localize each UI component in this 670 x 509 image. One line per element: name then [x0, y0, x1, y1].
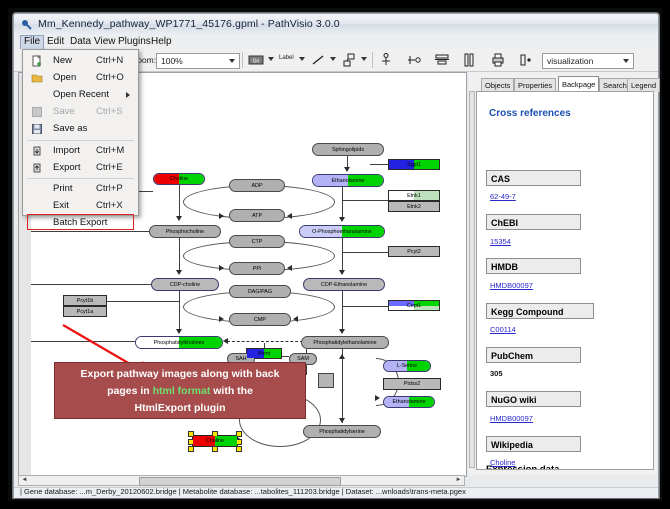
- chevron-down-icon: [623, 59, 629, 63]
- gene-node-pemt[interactable]: Pemt: [246, 348, 282, 359]
- arrow-icon: [223, 338, 228, 344]
- svg-text:Gn: Gn: [253, 59, 260, 65]
- arrow-icon: [339, 329, 345, 334]
- title-bar: Mm_Kennedy_pathway_WP1771_45176.gpml - P…: [14, 14, 658, 35]
- metabolite-node-phosphatidylserine[interactable]: Phosphatidylserine: [303, 425, 381, 438]
- metabolite-node-phosphocholine[interactable]: Phosphocholine: [149, 225, 221, 238]
- edge: [342, 291, 343, 333]
- menu-item-export-accel: Ctrl+E: [96, 162, 123, 173]
- metabolite-node-sphingolipids[interactable]: Sphingolipids: [312, 143, 384, 156]
- metabolite-node-atp[interactable]: ATP: [229, 209, 285, 222]
- metabolite-node-phosphatidylethanolamine[interactable]: Phosphatidylethanolamine: [301, 336, 389, 349]
- edge: [179, 185, 180, 218]
- edge: [31, 284, 151, 285]
- menu-bar: File Edit Data View Plugins Help: [14, 34, 658, 50]
- layout-icon[interactable]: [462, 52, 478, 68]
- xref-value-kegg[interactable]: C00114: [490, 325, 516, 334]
- metabolite-node-o-phosphoethanolamine[interactable]: O-Phosphoethanolamine: [299, 225, 385, 238]
- shape-dropdown-icon[interactable]: [361, 57, 367, 61]
- save-as-icon: [31, 123, 43, 135]
- label-dropdown-icon[interactable]: [299, 57, 305, 61]
- menu-item-save-as[interactable]: Save as: [23, 121, 138, 137]
- scrollbar-thumb[interactable]: [139, 477, 341, 486]
- xref-value-hmdb[interactable]: HMDB00097: [490, 281, 533, 290]
- arrow-icon: [219, 316, 224, 322]
- metabolite-node-adp[interactable]: ADP: [229, 179, 285, 192]
- legend-icon[interactable]: [518, 52, 534, 68]
- backpage-content: Cross references CAS 62-49-7 ChEBI 15354…: [476, 91, 654, 470]
- metabolite-node-l-serine[interactable]: L-Serine: [383, 360, 431, 372]
- datanode-dropdown-icon[interactable]: [268, 57, 274, 61]
- menu-item-print-label: Print: [53, 183, 73, 194]
- gene-node-sgpl1[interactable]: Sgpl1: [388, 159, 440, 170]
- xref-value-chebi[interactable]: 15354: [490, 237, 511, 246]
- menu-item-save-as-label: Save as: [53, 123, 87, 134]
- menu-item-exit-label: Exit: [53, 200, 69, 211]
- anchor-icon[interactable]: [378, 52, 394, 68]
- gene-node-pcyt1b[interactable]: Pcyt1b: [63, 295, 107, 306]
- tab-backpage[interactable]: Backpage: [558, 76, 599, 92]
- gene-node-pcyt1a[interactable]: Pcyt1a: [63, 306, 107, 317]
- arrow-icon: [339, 270, 345, 275]
- metabolite-node-phosphatidylcholines[interactable]: Phosphatidylkholines: [135, 336, 223, 349]
- menu-help[interactable]: Help: [147, 35, 176, 48]
- arrow-icon: [287, 213, 292, 219]
- edge: [342, 200, 390, 201]
- zoom-combobox[interactable]: 100%: [156, 53, 240, 69]
- window-title: Mm_Kennedy_pathway_WP1771_45176.gpml - P…: [38, 18, 340, 30]
- edge: [31, 231, 149, 232]
- open-folder-icon: [31, 72, 43, 84]
- edge: [342, 306, 390, 307]
- xref-value-cas[interactable]: 62-49-7: [490, 192, 516, 201]
- menu-item-export-label: Export: [53, 162, 80, 173]
- arrow-icon: [339, 418, 345, 423]
- edge: [179, 291, 180, 333]
- status-bar-text: | Gene database: ...m_Derby_20120602.bri…: [20, 487, 466, 496]
- menu-item-open[interactable]: Open Ctrl+O: [23, 70, 138, 86]
- scroll-left-icon[interactable]: ◄: [20, 477, 29, 484]
- menu-item-save-accel: Ctrl+S: [96, 106, 123, 117]
- xref-label-cas: CAS: [486, 170, 581, 186]
- chevron-down-icon: [229, 59, 235, 63]
- label-dropdown-label[interactable]: Label: [279, 55, 294, 61]
- menu-item-new[interactable]: New Ctrl+N: [23, 53, 138, 69]
- arrow-icon: [293, 316, 298, 322]
- new-file-icon: [31, 55, 43, 67]
- align-icon[interactable]: [434, 52, 450, 68]
- menu-item-open-recent[interactable]: Open Recent: [23, 87, 138, 103]
- gene-node-ptdss2[interactable]: Ptdss2: [383, 378, 441, 390]
- annotation-callout: Export pathway images along with back pa…: [54, 362, 306, 419]
- file-menu-dropdown[interactable]: New Ctrl+N Open Ctrl+O Open Recent Save …: [22, 49, 139, 216]
- arrow-icon: [344, 167, 350, 172]
- arrow-icon: [176, 216, 182, 221]
- metabolite-node-ethanolamine[interactable]: Ethanolamine: [312, 174, 384, 187]
- export-icon: [31, 162, 43, 174]
- menu-item-import-accel: Ctrl+M: [96, 145, 124, 156]
- callout-line-3: HtmlExport plugin: [55, 400, 305, 417]
- menu-separator: [27, 140, 134, 141]
- side-panel-tabs: Objects Properties Backpage Search Legen…: [475, 76, 657, 92]
- metabolite-node-ctp[interactable]: CTP: [229, 235, 285, 248]
- edge: [342, 187, 343, 220]
- import-icon: [31, 145, 43, 157]
- shape-icon[interactable]: [341, 52, 357, 68]
- edge: [370, 164, 390, 165]
- arrow-icon: [176, 329, 182, 334]
- scroll-right-icon[interactable]: ►: [454, 477, 463, 484]
- pathvisio-icon: [21, 19, 32, 30]
- menu-item-exit-accel: Ctrl+X: [96, 200, 123, 211]
- menu-item-exit[interactable]: Exit Ctrl+X: [23, 198, 138, 214]
- xref-value-nugo[interactable]: HMDB00097: [490, 414, 533, 423]
- arrow-icon: [339, 217, 345, 222]
- xref-label-chebi: ChEBI: [486, 214, 581, 230]
- menu-item-open-recent-label: Open Recent: [53, 89, 109, 100]
- gene-node-etnk1[interactable]: Etnk1: [388, 190, 440, 201]
- visualization-combobox[interactable]: visualization: [542, 53, 634, 69]
- xref-label-nugo: NuGO wiki: [486, 391, 581, 407]
- metabolite-node-cmp[interactable]: CMP: [229, 313, 291, 326]
- selection-handle[interactable]: [188, 446, 194, 452]
- side-panel: Objects Properties Backpage Search Legen…: [469, 72, 657, 475]
- save-icon: [31, 106, 43, 118]
- xref-label-pubchem: PubChem: [486, 347, 581, 363]
- arrow-icon: [287, 265, 292, 271]
- metabolite-node-choline-selected[interactable]: Choline: [192, 435, 238, 447]
- metabolite-node-cdp-ethanolamine[interactable]: CDP-Ethanolamine: [303, 278, 385, 291]
- print-icon[interactable]: [490, 52, 506, 68]
- callout-line-2a: pages in: [107, 385, 153, 397]
- xref-label-hmdb: HMDB: [486, 258, 581, 274]
- tab-objects[interactable]: Objects: [481, 78, 514, 92]
- menu-item-print-accel: Ctrl+P: [96, 183, 123, 194]
- xref-label-kegg: Kegg Compound: [486, 303, 594, 319]
- expression-data-heading: Expression data: [486, 464, 559, 470]
- batch-export-highlight: [27, 214, 134, 230]
- pathway-node-shape[interactable]: [318, 373, 334, 388]
- pathvisio-window: Mm_Kennedy_pathway_WP1771_45176.gpml - P…: [12, 12, 660, 499]
- menu-item-save-label: Save: [53, 106, 75, 117]
- arrow-icon: [219, 265, 224, 271]
- menu-separator: [27, 178, 134, 179]
- menu-edit[interactable]: Edit: [43, 35, 68, 48]
- canvas-horizontal-scrollbar[interactable]: ◄ ►: [18, 475, 465, 486]
- menu-item-save: Save Ctrl+S: [23, 104, 138, 120]
- metabolite-node-dag-pag[interactable]: DAG/PAG: [229, 285, 291, 298]
- edge: [179, 238, 180, 273]
- gene-node-cept1[interactable]: Cept1: [388, 300, 440, 311]
- line-dropdown-icon[interactable]: [330, 57, 336, 61]
- selection-handle[interactable]: [212, 446, 218, 452]
- tab-properties[interactable]: Properties: [514, 78, 556, 92]
- edge: [342, 238, 343, 274]
- arrow-icon: [375, 395, 380, 401]
- callout-line-2b: with the: [210, 385, 253, 397]
- zoom-value: 100%: [161, 56, 183, 66]
- arrow-icon: [176, 270, 182, 275]
- screenshot-frame: Mm_Kennedy_pathway_WP1771_45176.gpml - P…: [0, 0, 670, 509]
- tab-search[interactable]: Search: [599, 78, 631, 92]
- edge-dashed: [227, 341, 303, 342]
- menu-item-open-accel: Ctrl+O: [96, 72, 124, 83]
- metabolite-node-ethanolamine-2[interactable]: Ethanolamine: [383, 396, 435, 408]
- menu-file[interactable]: File: [20, 35, 44, 50]
- arrow-icon: [339, 354, 345, 359]
- menu-item-new-accel: Ctrl+N: [96, 55, 123, 66]
- selection-handle[interactable]: [236, 446, 242, 452]
- tab-legend[interactable]: Legend: [627, 78, 660, 92]
- metabolite-node-cdp-choline[interactable]: CDP-choline: [151, 278, 219, 291]
- gene-node-etnk2[interactable]: Etnk2: [388, 201, 440, 212]
- menu-item-print[interactable]: Print Ctrl+P: [23, 181, 138, 197]
- submenu-arrow-icon: [126, 92, 130, 98]
- cross-references-heading: Cross references: [489, 108, 571, 119]
- menu-item-import-label: Import: [53, 145, 80, 156]
- callout-highlight: html format: [153, 385, 211, 397]
- menu-item-open-label: Open: [53, 72, 76, 83]
- edge: [342, 252, 390, 253]
- metabolite-node-ppi[interactable]: PPi: [229, 262, 285, 275]
- interaction-icon[interactable]: [406, 52, 422, 68]
- visualization-value: visualization: [547, 56, 593, 66]
- xref-label-wikipedia: Wikipedia: [486, 436, 581, 452]
- menu-item-new-label: New: [53, 55, 72, 66]
- edge: [107, 301, 179, 302]
- metabolite-node-choline[interactable]: Choline: [153, 173, 205, 185]
- callout-line-2: pages in html format with the: [55, 383, 305, 400]
- line-icon[interactable]: [310, 52, 326, 68]
- side-panel-scrollbar[interactable]: [469, 91, 475, 468]
- datanode-icon[interactable]: Gn: [248, 52, 264, 68]
- xref-value-pubchem: 305: [490, 369, 503, 378]
- menu-item-export[interactable]: Export Ctrl+E: [23, 160, 138, 176]
- edge: [342, 349, 343, 423]
- arrow-icon: [219, 213, 224, 219]
- status-bar: | Gene database: ...m_Derby_20120602.bri…: [14, 487, 658, 498]
- gene-node-pcyt2[interactable]: Pcyt2: [388, 246, 440, 257]
- menu-item-import[interactable]: Import Ctrl+M: [23, 143, 138, 159]
- callout-line-1: Export pathway images along with back: [55, 366, 305, 383]
